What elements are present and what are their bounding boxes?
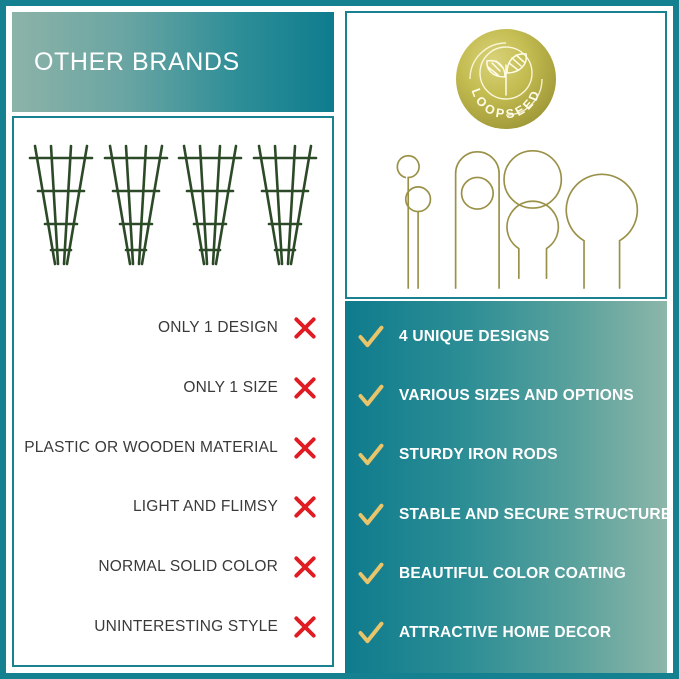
pro-label: ATTRACTIVE HOME DECOR	[399, 624, 611, 642]
pro-label: BEAUTIFUL COLOR COATING	[399, 565, 626, 583]
loopseed-logo-icon: LOOPSEED	[448, 21, 564, 137]
pro-label: STURDY IRON RODS	[399, 446, 558, 464]
con-label: NORMAL SOLID COLOR	[98, 558, 278, 576]
trellis-icon-4	[250, 138, 320, 278]
trellis-icon-1	[26, 138, 96, 278]
pro-label: STABLE AND SECURE STRUCTURE	[399, 506, 671, 524]
other-brands-column: OTHER BRANDS	[6, 6, 340, 673]
con-label: ONLY 1 SIZE	[183, 379, 278, 397]
con-label: ONLY 1 DESIGN	[158, 319, 278, 337]
list-item: 4 UNIQUE DESIGNS	[357, 323, 657, 351]
check-icon	[357, 501, 385, 529]
pro-label: 4 UNIQUE DESIGNS	[399, 328, 549, 346]
list-item: ONLY 1 SIZE	[20, 375, 318, 401]
cross-icon	[292, 375, 318, 401]
other-brands-header: OTHER BRANDS	[12, 12, 334, 112]
cross-icon	[292, 554, 318, 580]
comparison-infographic: OTHER BRANDS	[0, 0, 679, 679]
trellis-icon-3	[175, 138, 245, 278]
cross-icon	[292, 315, 318, 341]
page-title: OTHER BRANDS	[12, 48, 240, 77]
check-icon	[357, 560, 385, 588]
list-item: PLASTIC OR WOODEN MATERIAL	[20, 435, 318, 461]
loopseed-column: LOOPSEED	[340, 6, 673, 673]
other-brands-card: ONLY 1 DESIGN ONLY 1 SIZE	[12, 116, 334, 667]
list-item: LIGHT AND FLIMSY	[20, 494, 318, 520]
pros-list: 4 UNIQUE DESIGNS VARIOUS SIZES AND OPTIO…	[345, 301, 667, 673]
con-label: UNINTERESTING STYLE	[94, 618, 278, 636]
check-icon	[357, 619, 385, 647]
check-icon	[357, 441, 385, 469]
cross-icon	[292, 614, 318, 640]
con-label: PLASTIC OR WOODEN MATERIAL	[24, 439, 278, 457]
loopseed-product-card: LOOPSEED	[345, 11, 667, 299]
list-item: VARIOUS SIZES AND OPTIONS	[357, 382, 657, 410]
iron-rod-supports-icon	[347, 131, 665, 299]
list-item: NORMAL SOLID COLOR	[20, 554, 318, 580]
list-item: STABLE AND SECURE STRUCTURE	[357, 501, 657, 529]
list-item: BEAUTIFUL COLOR COATING	[357, 560, 657, 588]
list-item: UNINTERESTING STYLE	[20, 614, 318, 640]
cross-icon	[292, 435, 318, 461]
pro-label: VARIOUS SIZES AND OPTIONS	[399, 387, 634, 405]
check-icon	[357, 382, 385, 410]
cross-icon	[292, 494, 318, 520]
list-item: STURDY IRON RODS	[357, 441, 657, 469]
brand-logo: LOOPSEED	[448, 21, 564, 137]
con-label: LIGHT AND FLIMSY	[133, 498, 278, 516]
cons-list: ONLY 1 DESIGN ONLY 1 SIZE	[14, 294, 332, 665]
other-brands-product-illustration	[14, 118, 332, 294]
trellis-icon-2	[101, 138, 171, 278]
loopseed-product-illustration	[347, 131, 665, 299]
check-icon	[357, 323, 385, 351]
list-item: ONLY 1 DESIGN	[20, 315, 318, 341]
list-item: ATTRACTIVE HOME DECOR	[357, 619, 657, 647]
